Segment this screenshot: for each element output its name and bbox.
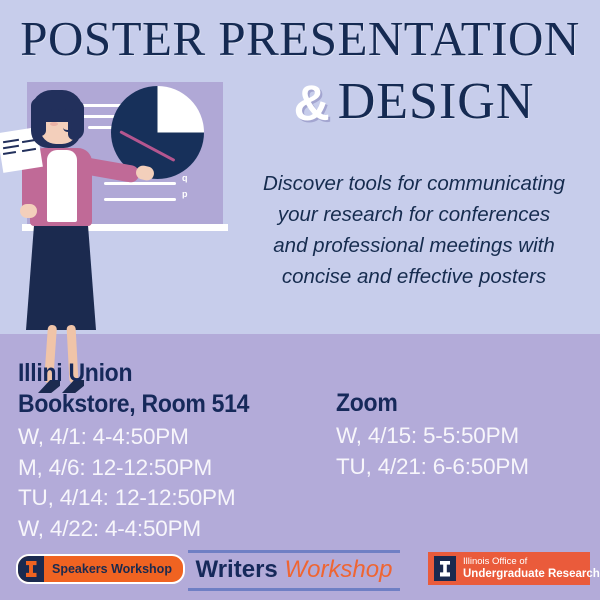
location-zoom: Zoom: [336, 388, 568, 419]
location-line-2: Bookstore, Room 514: [18, 389, 309, 420]
session-time: M, 4/6: 12-12:50PM: [18, 453, 334, 484]
presenter-eyebrow: [51, 109, 59, 111]
session-times-inperson: W, 4/1: 4-4:50PM M, 4/6: 12-12:50PM TU, …: [18, 422, 334, 544]
illinois-i-icon: [434, 556, 456, 581]
schedule-column-inperson: Illini Union Bookstore, Room 514 W, 4/1:…: [18, 358, 334, 544]
rule-bottom: [188, 588, 400, 591]
description-line-4: concise and effective posters: [228, 261, 600, 292]
session-time: W, 4/1: 4-4:50PM: [18, 422, 334, 453]
presenter-eye: [53, 114, 57, 118]
ampersand-glyph: &: [294, 75, 330, 131]
presenter-cheek: [50, 122, 58, 126]
presenter-skirt: [26, 220, 96, 330]
workshop-word: Workshop: [284, 556, 392, 583]
block-i-glyph: [440, 561, 450, 577]
page-title-line1: POSTER PRESENTATION: [0, 12, 600, 66]
our-label-line2: Undergraduate Research: [463, 568, 600, 581]
description-line-2: your research for conferences: [228, 199, 600, 230]
description-line-1: Discover tools for communicating: [228, 168, 600, 199]
writers-workshop-label: Writers Workshop: [188, 553, 400, 588]
footer-logos: Speakers Workshop Writers Workshop Illin…: [0, 540, 600, 600]
presenter-hair-side: [68, 100, 84, 140]
page-title-line2: &DESIGN: [228, 74, 600, 131]
presenter-hand-left: [20, 204, 37, 218]
writers-workshop-logo[interactable]: Writers Workshop: [188, 550, 400, 591]
block-i-glyph: [26, 561, 37, 577]
undergraduate-research-logo[interactable]: Illinois Office of Undergraduate Researc…: [428, 552, 590, 585]
presenter-hair-side: [31, 98, 46, 136]
speakers-workshop-logo[interactable]: Speakers Workshop: [16, 554, 185, 584]
presenter-shirt: [47, 150, 77, 222]
session-times-zoom: W, 4/15: 5-5:50PM TU, 4/21: 6-6:50PM: [336, 421, 588, 482]
session-time: TU, 4/21: 6-6:50PM: [336, 452, 588, 483]
presenter-eye: [67, 114, 71, 118]
description-line-3: and professional meetings with: [228, 230, 600, 261]
writers-word: Writers: [196, 556, 278, 583]
page-title-design: DESIGN: [338, 73, 535, 130]
board-mark-b: b: [182, 174, 188, 184]
poster-canvas: POSTER PRESENTATION &DESIGN Discover too…: [0, 0, 600, 600]
location-line-1: Illini Union: [18, 358, 309, 389]
description-text: Discover tools for communicating your re…: [228, 168, 600, 292]
board-text-line: [104, 182, 176, 185]
session-time: TU, 4/14: 12-12:50PM: [18, 483, 334, 514]
presenter-eyebrow: [65, 109, 73, 111]
schedule-column-zoom: Zoom W, 4/15: 5-5:50PM TU, 4/21: 6-6:50P…: [336, 388, 588, 482]
board-mark-d: d: [182, 190, 188, 200]
session-time: W, 4/15: 5-5:50PM: [336, 421, 588, 452]
schedule-section: Illini Union Bookstore, Room 514 W, 4/1:…: [0, 350, 600, 540]
our-label-line1: Illinois Office of: [463, 556, 600, 568]
board-text-line: [104, 198, 176, 201]
speakers-workshop-label: Speakers Workshop: [44, 556, 183, 582]
illinois-i-icon: [18, 556, 44, 582]
our-label: Illinois Office of Undergraduate Researc…: [463, 556, 600, 581]
presenter-illustration: b d: [0, 70, 230, 360]
